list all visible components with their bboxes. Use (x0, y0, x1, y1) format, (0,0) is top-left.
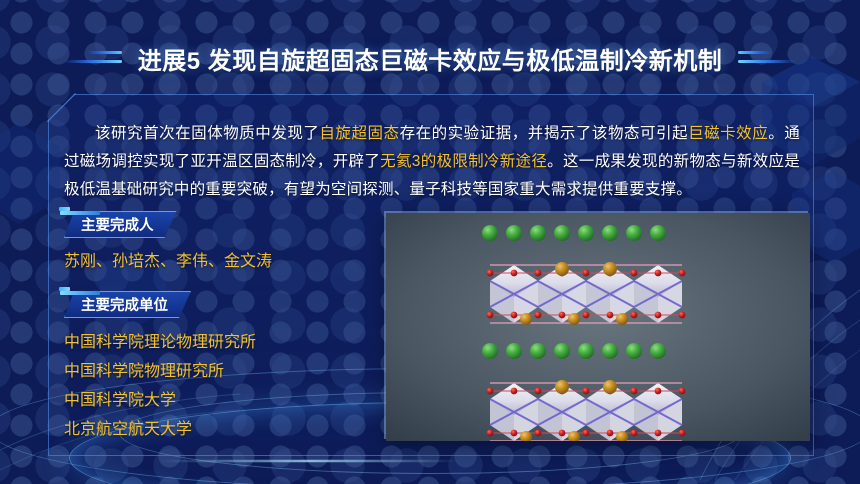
slide-canvas: 进展5 发现自旋超固态巨磁卡效应与极低温制冷新机制 该研究首次在固体物质中发现了… (0, 0, 860, 484)
people-list-item-0: 苏刚、孙培杰、李伟、金文涛 (64, 247, 272, 271)
paragraph-highlight-5: 无氦3的极限制冷新途径 (380, 153, 547, 170)
title-line-decoration-right-icon (738, 46, 812, 70)
unit-list-item-3: 北京航空航天大学 (64, 415, 192, 439)
paragraph-highlight-1: 自旋超固态 (319, 125, 399, 142)
unit-list-item-0: 中国科学院理论物理研究所 (64, 328, 256, 352)
platform-light-streak-a (160, 460, 460, 462)
page-title: 进展5 发现自旋超固态巨磁卡效应与极低温制冷新机制 (138, 41, 723, 76)
unit-list-item-1: 中国科学院物理研究所 (64, 357, 224, 381)
section-badge-people: 主要完成人 (64, 211, 177, 238)
paragraph-text-2: 存在的实验证据，并揭示了该物态可引起 (400, 125, 689, 142)
section-badge-units: 主要完成单位 (64, 291, 191, 318)
paragraph-highlight-3: 巨磁卡效应 (688, 125, 768, 142)
summary-paragraph: 该研究首次在固体物质中发现了自旋超固态存在的实验证据，并揭示了该物态可引起巨磁卡… (64, 120, 800, 204)
badge-accent-bottom-left-icon (60, 211, 100, 215)
panel-corner-bevel-icon (47, 93, 77, 123)
paragraph-text-0: 该研究首次在固体物质中发现了 (95, 125, 319, 142)
decorative-polygon-left (0, 120, 64, 230)
crystal-lattice-illustration (386, 213, 810, 441)
unit-list-item-2: 中国科学院大学 (64, 386, 176, 410)
badge-accent-bottom-left-icon (60, 291, 100, 295)
title-line-decoration-left-icon (48, 46, 122, 70)
crystal-lattice-svg (386, 213, 810, 441)
slide-title-bar: 进展5 发现自旋超固态巨磁卡效应与极低温制冷新机制 (0, 38, 860, 78)
